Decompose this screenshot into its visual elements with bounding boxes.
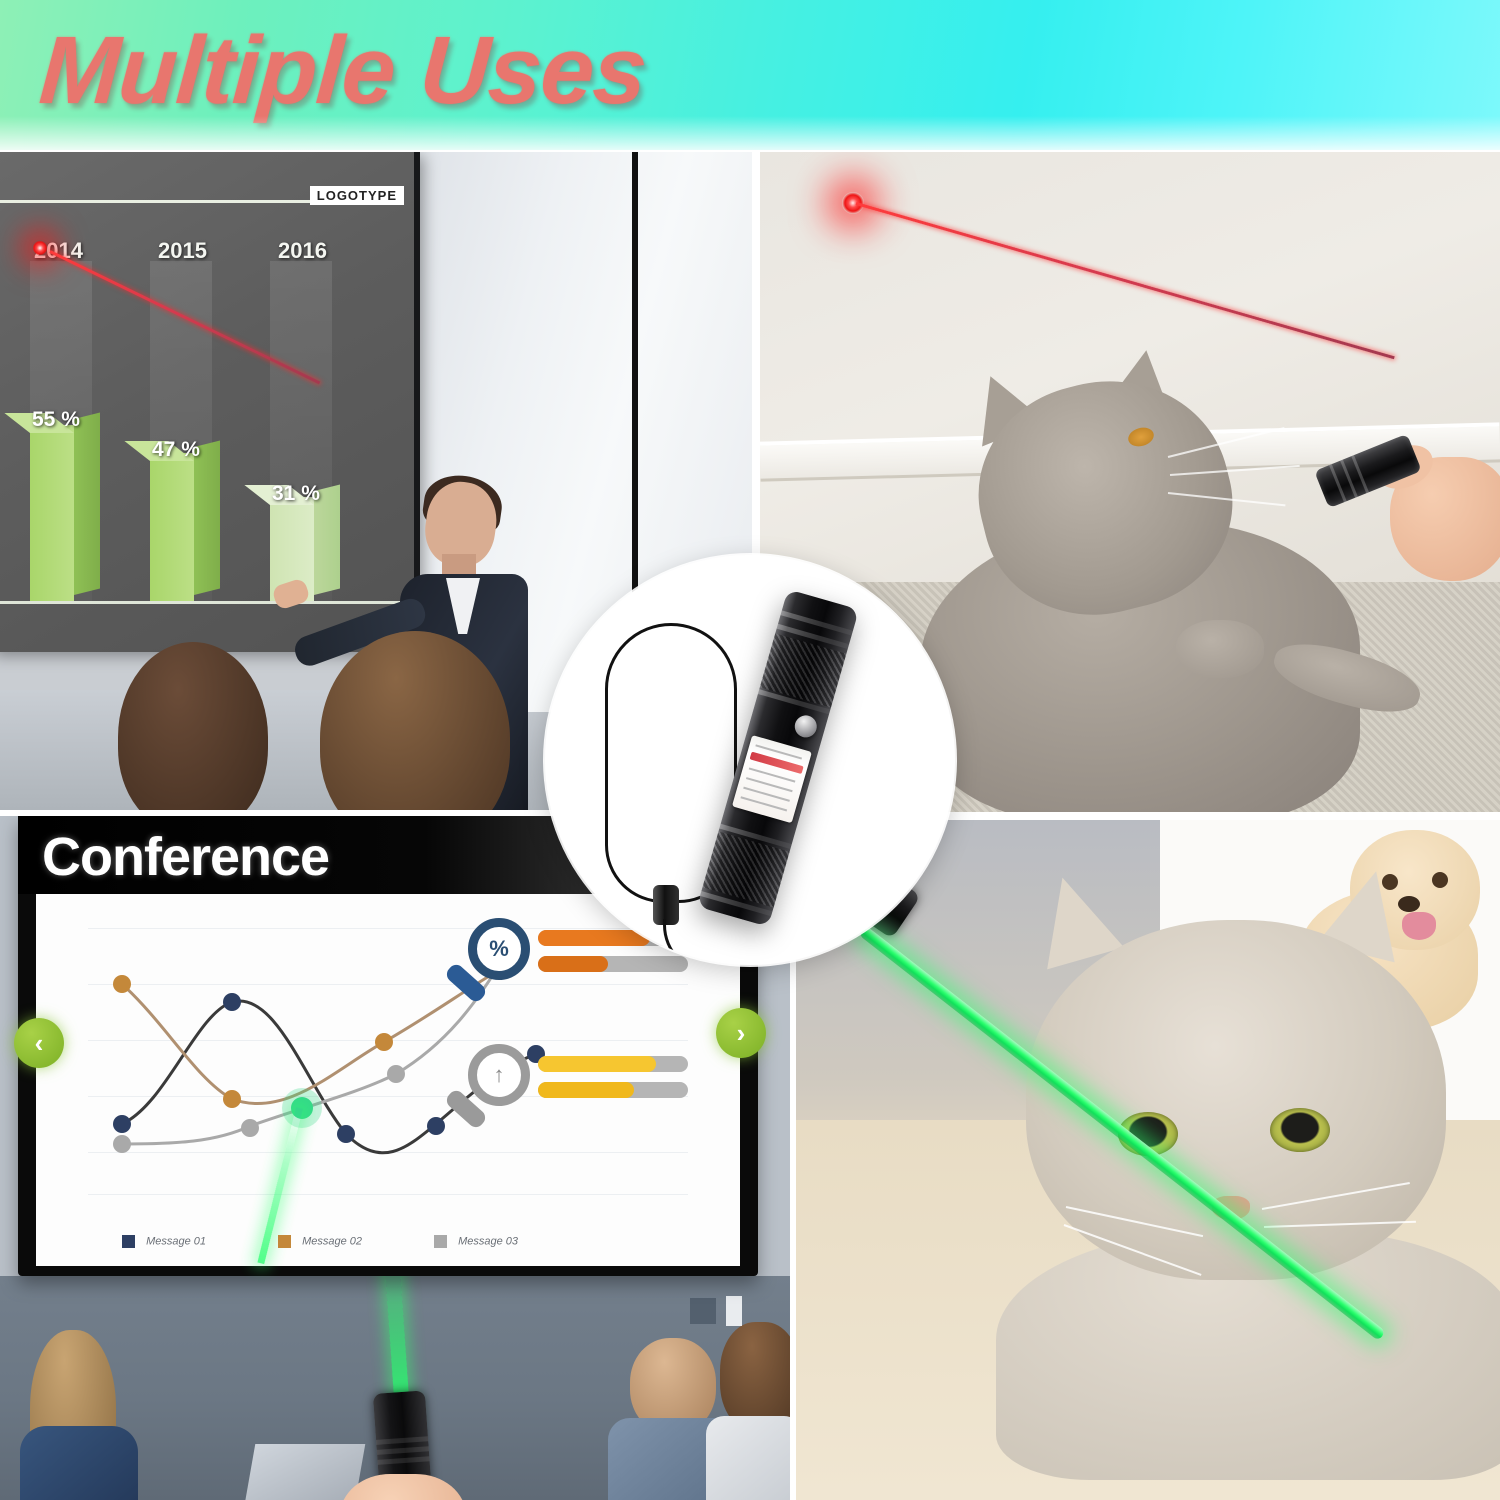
- magnifier-arrow-up-icon: ↑: [468, 1044, 530, 1106]
- power-button-icon[interactable]: [792, 713, 819, 740]
- light-switch: [726, 1296, 742, 1326]
- laser-dot-red-icon: [32, 240, 48, 256]
- screen-rule: [0, 200, 350, 203]
- conference-title: Conference: [42, 826, 329, 888]
- conference-room: [0, 1276, 790, 1500]
- laptop: [245, 1444, 366, 1500]
- page-title: Multiple Uses: [36, 16, 649, 126]
- hand-holding-pointer: [1360, 437, 1500, 587]
- panel-cat-green-laser: [796, 820, 1500, 1500]
- carousel-prev-button[interactable]: ‹: [14, 1018, 64, 1068]
- legend-label: Message 01: [146, 1235, 206, 1247]
- legend-item: Message 01: [122, 1235, 206, 1248]
- audience-person-torso: [706, 1416, 790, 1500]
- chart-baseline: [0, 601, 410, 604]
- laser-beam-red: [856, 202, 1395, 359]
- bar-value-2015: 47 %: [152, 438, 200, 462]
- tabby-cat: [1026, 900, 1496, 1460]
- legend-item: Message 03: [434, 1235, 518, 1248]
- cat-eye: [1270, 1108, 1330, 1152]
- chart-legend: Message 01 Message 02 Message 03: [122, 1235, 518, 1248]
- slide-content: % ↑ Mess: [36, 894, 740, 1266]
- warning-label: [732, 735, 812, 823]
- bar-value-2014: 55 %: [32, 408, 80, 432]
- legend-label: Message 03: [458, 1235, 518, 1247]
- projector-screen: LOGOTYPE 2014 2015 2016: [0, 152, 420, 652]
- carousel-next-button[interactable]: ›: [716, 1008, 766, 1058]
- audience-person-torso: [20, 1426, 138, 1500]
- wall-sign-icon: [690, 1298, 716, 1324]
- product-highlight-bubble: [545, 555, 955, 965]
- cat-paw: [1176, 620, 1264, 678]
- bar-value-2016: 31 %: [272, 482, 320, 506]
- header-banner: Multiple Uses: [0, 0, 1500, 150]
- legend-item: Message 02: [278, 1235, 362, 1248]
- audience-head: [118, 642, 268, 810]
- logotype-label: LOGOTYPE: [310, 186, 404, 205]
- legend-label: Message 02: [302, 1235, 362, 1247]
- magnifier-percent-icon: %: [468, 918, 530, 980]
- grey-cat: [920, 382, 1390, 812]
- product-collage: Multiple Uses LOGOTYPE 2014 2015 2016: [0, 0, 1500, 1500]
